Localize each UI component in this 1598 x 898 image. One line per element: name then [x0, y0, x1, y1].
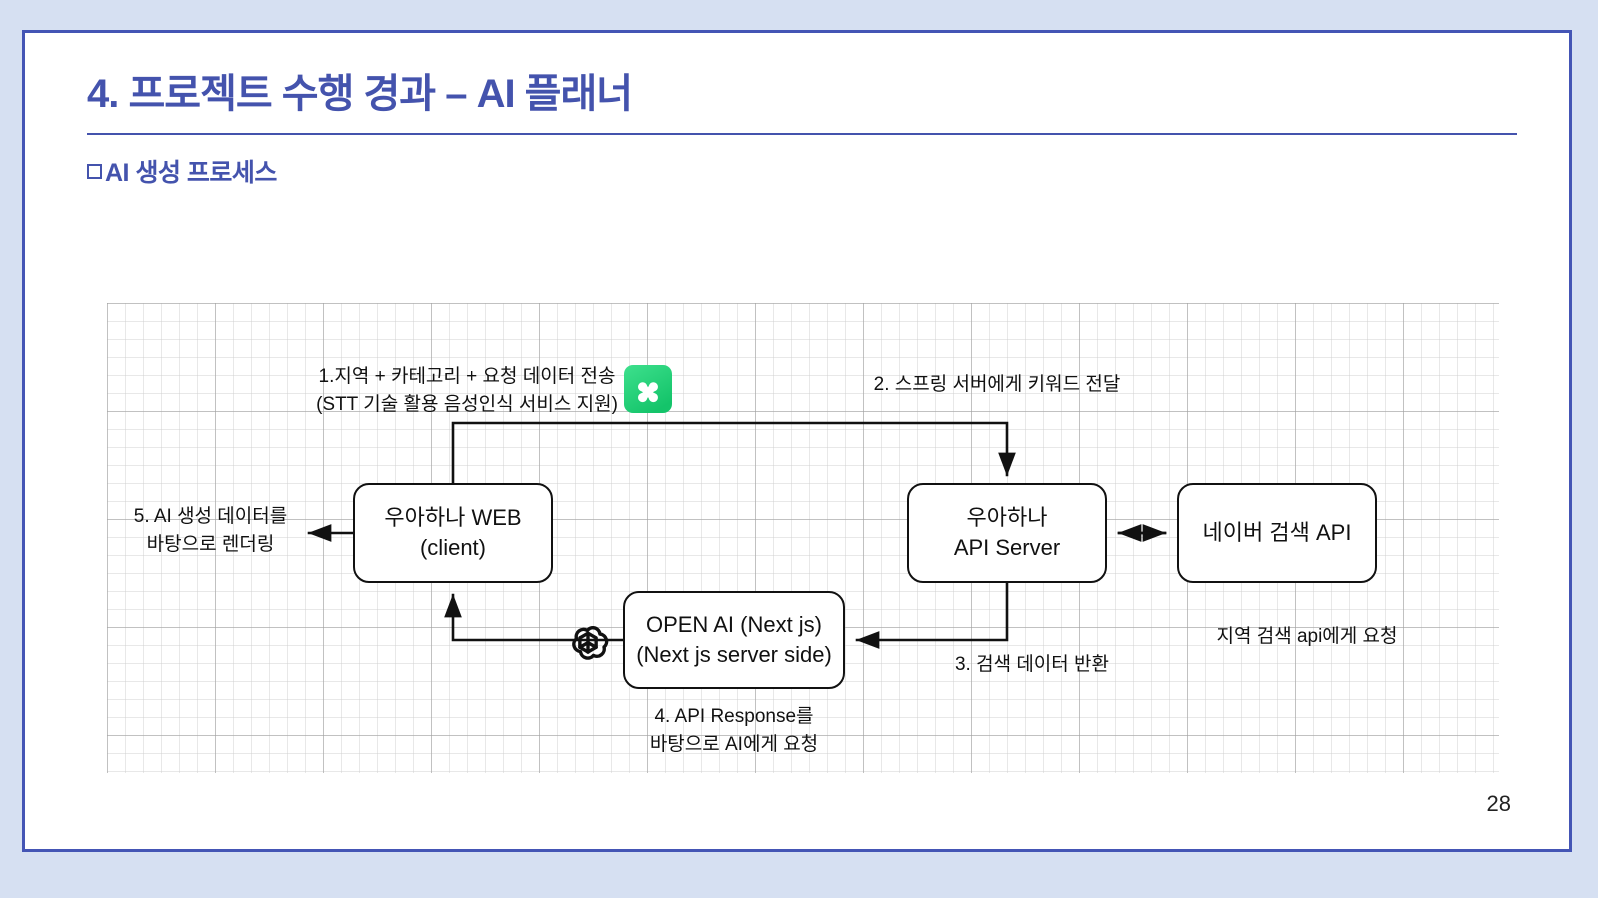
node-line-1: 우아하나	[967, 503, 1048, 533]
note-local-search-request: 지역 검색 api에게 요청	[1182, 623, 1432, 651]
slide-canvas: 4. 프로젝트 수행 경과 – AI 플래너 AI 생성 프로세스	[22, 30, 1572, 852]
note-step-4: 4. API Response를 바탕으로 AI에게 요청	[623, 703, 845, 758]
node-open-ai-next-js[interactable]: OPEN AI (Next js) (Next js server side)	[623, 591, 845, 689]
node-line-1: 네이버 검색 API	[1203, 518, 1352, 548]
node-naver-search-api[interactable]: 네이버 검색 API	[1177, 483, 1377, 583]
note-step-5: 5. AI 생성 데이터를 바탕으로 렌더링	[103, 503, 318, 558]
note-step-1: 1.지역 + 카테고리 + 요청 데이터 전송 (STT 기술 활용 음성인식 …	[277, 363, 657, 418]
node-line-2: (client)	[420, 533, 486, 563]
node-uahana-web[interactable]: 우아하나 WEB (client)	[353, 483, 553, 583]
section-subtitle-label: AI 생성 프로세스	[105, 159, 277, 187]
node-line-2: API Server	[954, 533, 1060, 563]
note-step-3: 3. 검색 데이터 반환	[907, 651, 1157, 679]
node-uahana-api-server[interactable]: 우아하나 API Server	[907, 483, 1107, 583]
node-line-2: (Next js server side)	[636, 640, 832, 670]
section-subtitle: AI 생성 프로세스	[87, 153, 277, 189]
node-line-1: 우아하나 WEB	[384, 503, 521, 533]
page-title: 4. 프로젝트 수행 경과 – AI 플래너	[87, 61, 632, 119]
note-step-2: 2. 스프링 서버에게 키워드 전달	[847, 371, 1147, 399]
diagram-canvas: 우아하나 WEB (client) 우아하나 API Server 네이버 검색…	[107, 303, 1499, 773]
openai-icon	[562, 618, 614, 670]
title-divider	[87, 133, 1517, 135]
page-number: 28	[1487, 791, 1511, 817]
bullet-square-icon	[87, 164, 102, 179]
node-line-1: OPEN AI (Next js)	[646, 610, 822, 640]
clova-icon	[624, 365, 672, 413]
